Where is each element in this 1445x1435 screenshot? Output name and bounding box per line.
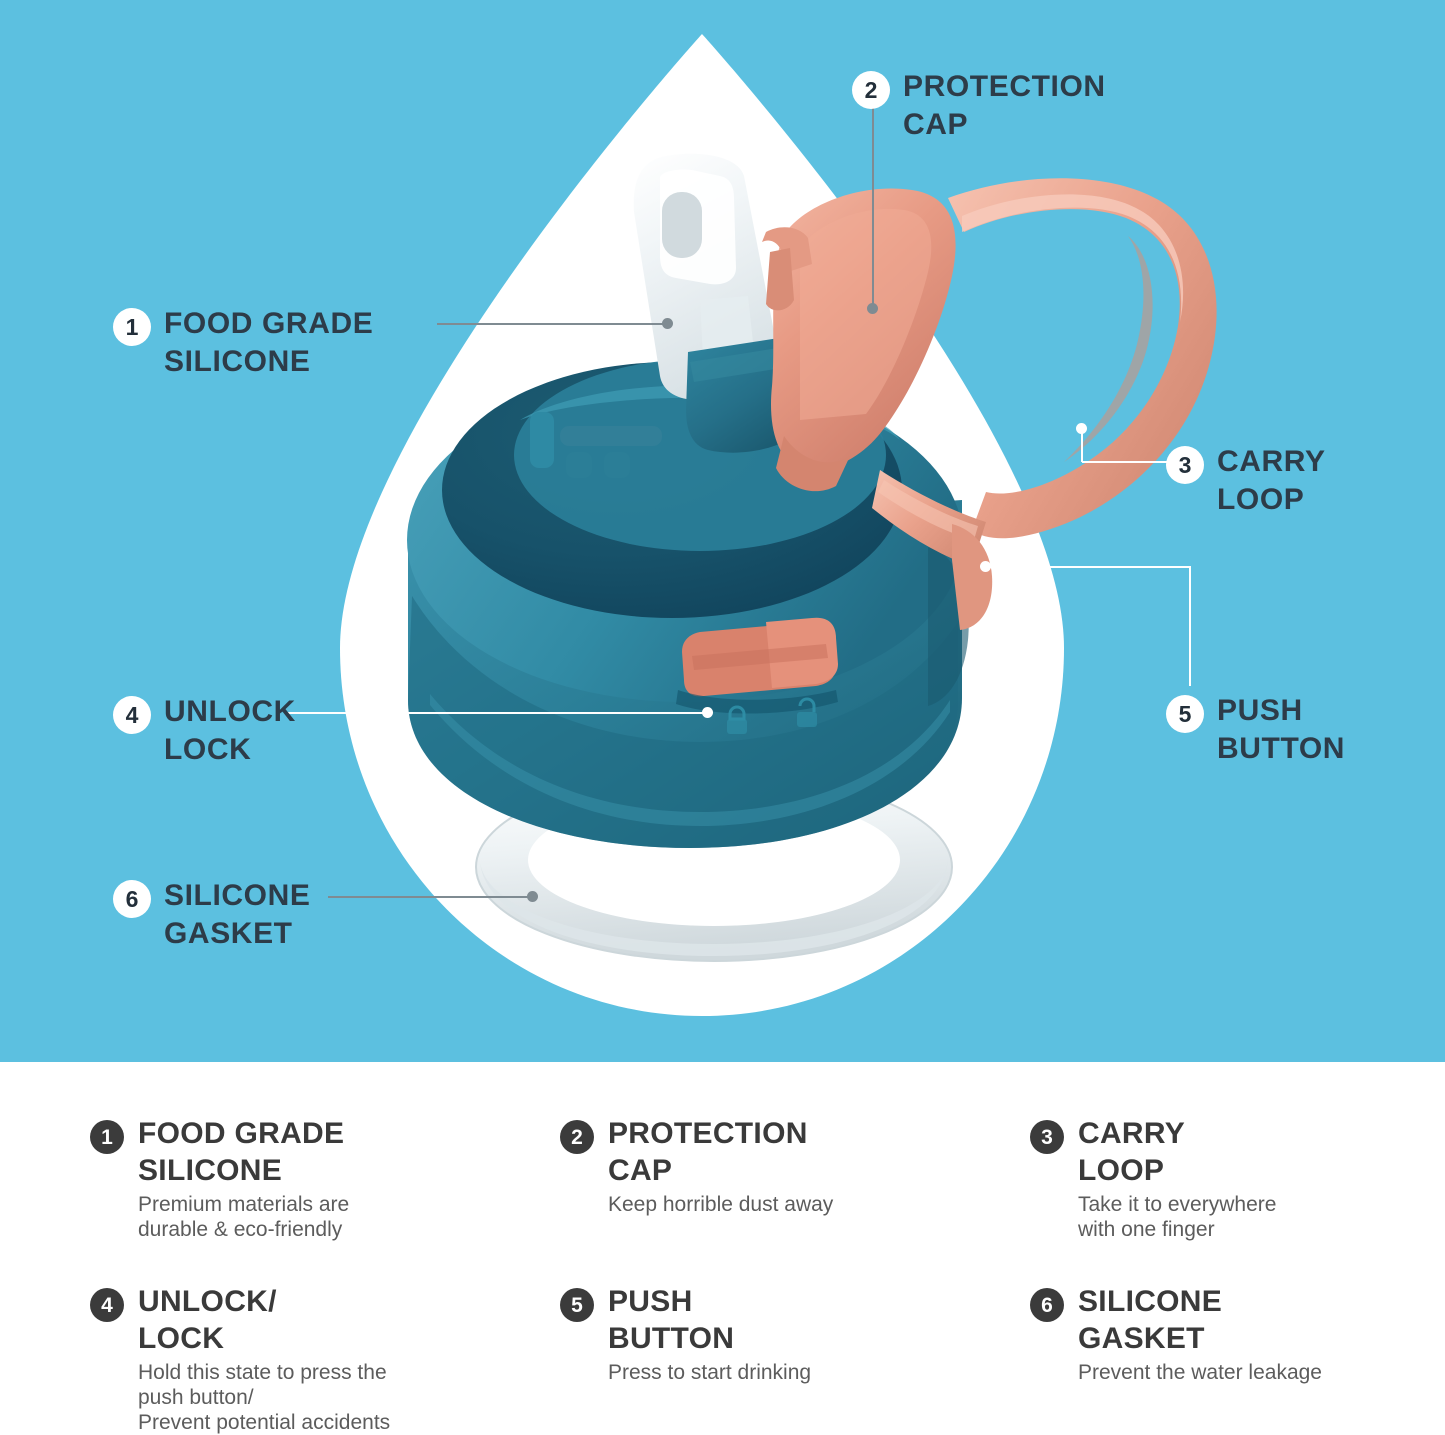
hero-section: 1 FOOD GRADE SILICONE 2 PROTECTION CAP 3… — [0, 0, 1445, 1062]
leader-dot-1 — [662, 318, 673, 329]
legend-item-3: 3 CARRY LOOP Take it to everywhere with … — [1030, 1116, 1430, 1243]
callout-label-2: PROTECTION CAP — [903, 68, 1106, 144]
callout-5: 5 PUSH BUTTON — [1166, 692, 1345, 768]
callout-badge-5: 5 — [1166, 695, 1204, 733]
callout-label-6: SILICONE GASKET — [164, 877, 310, 953]
callout-label-3: CARRY LOOP — [1217, 443, 1326, 519]
legend-title-6: SILICONE GASKET — [1078, 1284, 1322, 1357]
leader-dot-4 — [702, 707, 713, 718]
legend-badge-3: 3 — [1030, 1120, 1064, 1154]
leader-dot-6 — [527, 891, 538, 902]
legend-badge-1: 1 — [90, 1120, 124, 1154]
callout-badge-1: 1 — [113, 308, 151, 346]
callout-badge-4: 4 — [113, 696, 151, 734]
legend-desc-2: Keep horrible dust away — [608, 1193, 833, 1218]
callout-badge-3: 3 — [1166, 446, 1204, 484]
callout-badge-6: 6 — [113, 880, 151, 918]
legend-item-4: 4 UNLOCK/ LOCK Hold this state to press … — [90, 1284, 500, 1435]
callout-label-1: FOOD GRADE SILICONE — [164, 305, 373, 381]
legend-desc-6: Prevent the water leakage — [1078, 1361, 1322, 1386]
legend-title-5: PUSH BUTTON — [608, 1284, 811, 1357]
callout-label-4: UNLOCK LOCK — [164, 693, 296, 769]
legend-item-1: 1 FOOD GRADE SILICONE Premium materials … — [90, 1116, 490, 1243]
callout-3: 3 CARRY LOOP — [1166, 443, 1326, 519]
legend-item-6: 6 SILICONE GASKET Prevent the water leak… — [1030, 1284, 1430, 1386]
leader-dot-3 — [1076, 423, 1087, 434]
legend-desc-5: Press to start drinking — [608, 1361, 811, 1386]
legend-title-3: CARRY LOOP — [1078, 1116, 1276, 1189]
leader-dot-5 — [980, 561, 991, 572]
leader-line-1 — [437, 323, 672, 325]
callout-badge-2: 2 — [852, 71, 890, 109]
callout-label-5: PUSH BUTTON — [1217, 692, 1345, 768]
legend-title-2: PROTECTION CAP — [608, 1116, 833, 1189]
callout-4: 4 UNLOCK LOCK — [113, 693, 296, 769]
leader-dot-2 — [867, 303, 878, 314]
legend-badge-5: 5 — [560, 1288, 594, 1322]
leader-line-6 — [328, 896, 533, 898]
legend-title-4: UNLOCK/ LOCK — [138, 1284, 390, 1357]
legend-badge-2: 2 — [560, 1120, 594, 1154]
legend-item-2: 2 PROTECTION CAP Keep horrible dust away — [560, 1116, 980, 1218]
legend-desc-1: Premium materials are durable & eco-frie… — [138, 1193, 349, 1243]
legend-desc-3: Take it to everywhere with one finger — [1078, 1193, 1276, 1243]
callout-2: 2 PROTECTION CAP — [852, 68, 1106, 144]
legend-badge-4: 4 — [90, 1288, 124, 1322]
leader-line-3 — [1082, 461, 1172, 463]
legend-item-5: 5 PUSH BUTTON Press to start drinking — [560, 1284, 980, 1386]
leader-line-4 — [285, 712, 710, 714]
callout-1: 1 FOOD GRADE SILICONE — [113, 305, 373, 381]
callout-6: 6 SILICONE GASKET — [113, 877, 310, 953]
protection-cap-part — [762, 188, 956, 491]
legend-title-1: FOOD GRADE SILICONE — [138, 1116, 349, 1189]
leader-line-5b — [1189, 566, 1191, 686]
leader-line-5 — [985, 566, 1190, 568]
legend-section: 1 FOOD GRADE SILICONE Premium materials … — [0, 1062, 1445, 1417]
legend-desc-4: Hold this state to press the push button… — [138, 1361, 390, 1435]
legend-badge-6: 6 — [1030, 1288, 1064, 1322]
